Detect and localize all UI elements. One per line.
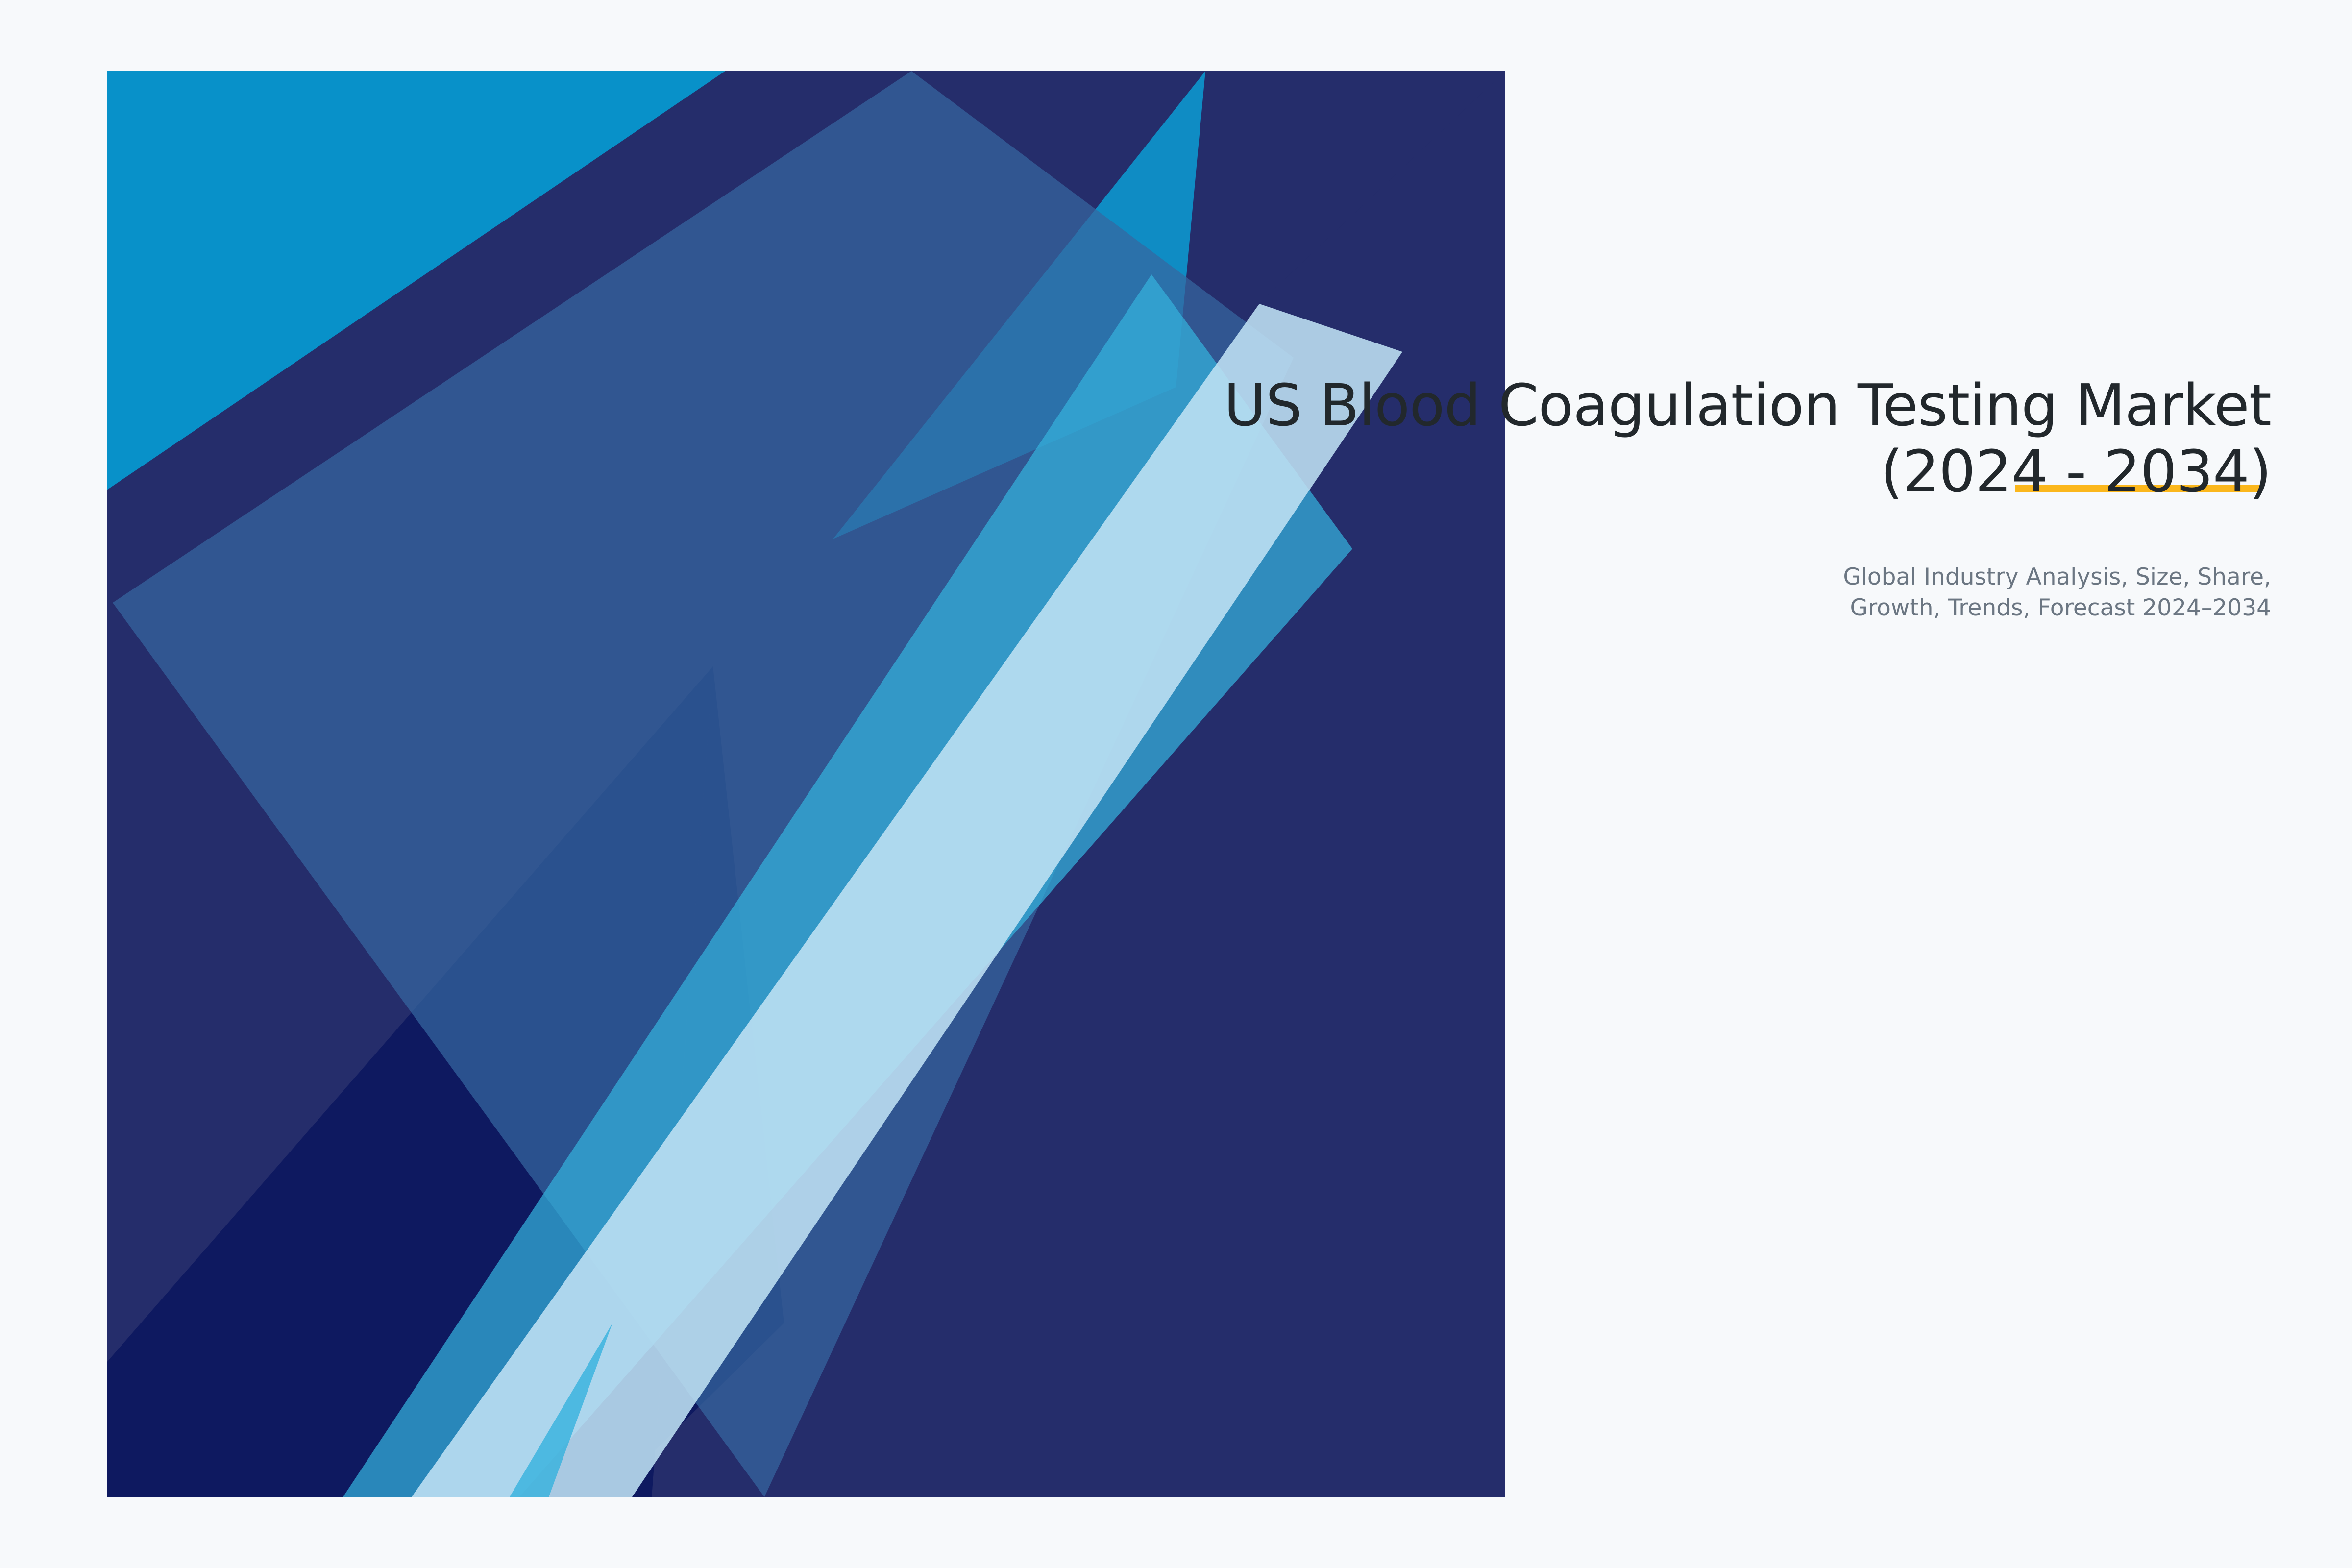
page-subtitle: Global Industry Analysis, Size, Share, G… [801, 562, 2271, 623]
title-line-1: US Blood Coagulation Testing Market [801, 372, 2271, 439]
subtitle-line-1: Global Industry Analysis, Size, Share, [801, 562, 2271, 593]
decorative-artwork [0, 0, 2352, 1568]
subtitle-line-2: Growth, Trends, Forecast 2024–2034 [801, 593, 2271, 624]
cover-text-block: US Blood Coagulation Testing Market (202… [801, 372, 2271, 623]
page-title: US Blood Coagulation Testing Market (202… [801, 372, 2271, 504]
title-line-2: (2024 - 2034) [801, 439, 2271, 505]
